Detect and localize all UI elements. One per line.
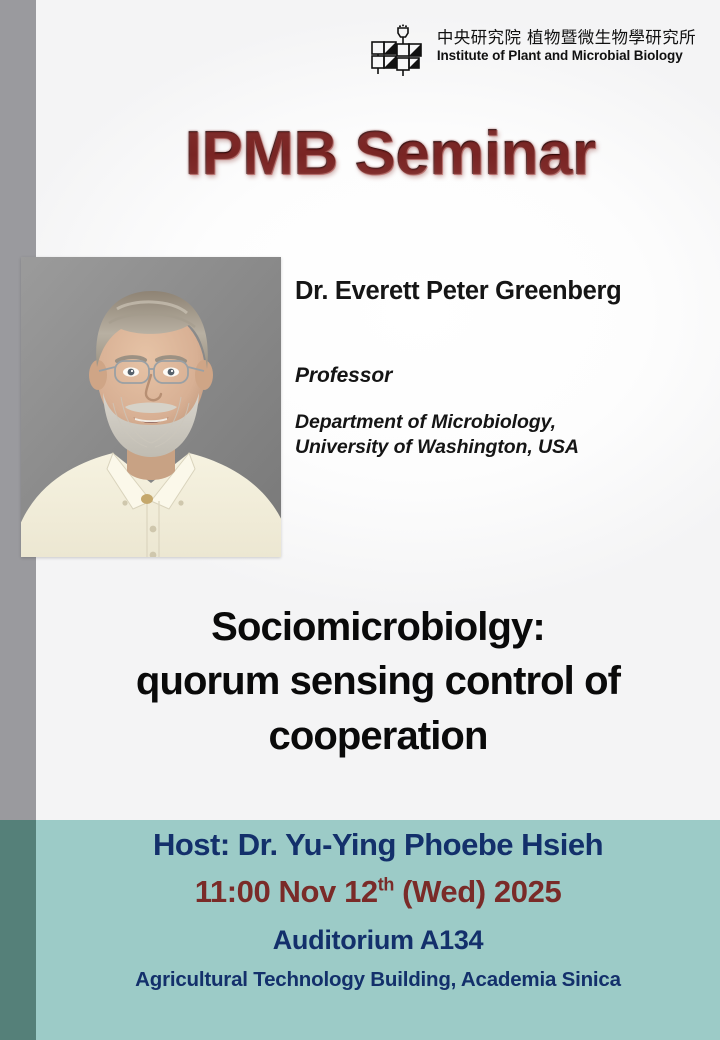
page-title: IPMB Seminar: [36, 118, 720, 189]
datetime-ordinal: th: [378, 874, 394, 894]
talk-title: Sociomicrobiolgy: quorum sensing control…: [36, 600, 720, 763]
speaker-affiliation-line2: University of Washington, USA: [295, 435, 713, 460]
portrait-illustration-icon: [21, 257, 281, 557]
speaker-portrait-photo: [21, 257, 281, 557]
speaker-affiliation-line1: Department of Microbiology,: [295, 410, 713, 435]
speaker-rank: Professor: [295, 364, 713, 388]
institute-name-block: 中央研究院 植物暨微生物學研究所 Institute of Plant and …: [437, 22, 696, 64]
ipmb-institute-logo-icon: [367, 24, 427, 80]
speaker-info: Dr. Everett Peter Greenberg Professor De…: [295, 277, 713, 460]
left-teal-strip: [0, 820, 36, 1040]
institute-name-zh: 中央研究院 植物暨微生物學研究所: [437, 28, 696, 47]
institute-header: 中央研究院 植物暨微生物學研究所 Institute of Plant and …: [0, 22, 720, 80]
speaker-affiliation: Department of Microbiology, University o…: [295, 410, 713, 460]
talk-title-line2: quorum sensing control of: [36, 654, 720, 708]
institute-name-en: Institute of Plant and Microbial Biology: [437, 48, 683, 64]
talk-title-line1: Sociomicrobiolgy:: [36, 600, 720, 654]
datetime-prefix: 11:00 Nov 12: [195, 874, 378, 909]
talk-title-line3: cooperation: [36, 709, 720, 763]
room-line: Auditorium A134: [273, 924, 484, 956]
event-details-band: Host: Dr. Yu-Ying Phoebe Hsieh 11:00 Nov…: [0, 820, 720, 1040]
datetime-line: 11:00 Nov 12th (Wed) 2025: [195, 873, 562, 912]
speaker-name: Dr. Everett Peter Greenberg: [295, 277, 713, 306]
host-line: Host: Dr. Yu-Ying Phoebe Hsieh: [153, 826, 603, 865]
seminar-poster: 中央研究院 植物暨微生物學研究所 Institute of Plant and …: [0, 0, 720, 1040]
event-details-content: Host: Dr. Yu-Ying Phoebe Hsieh 11:00 Nov…: [36, 820, 720, 1040]
datetime-suffix: (Wed) 2025: [394, 874, 561, 909]
building-line: Agricultural Technology Building, Academ…: [135, 968, 621, 993]
